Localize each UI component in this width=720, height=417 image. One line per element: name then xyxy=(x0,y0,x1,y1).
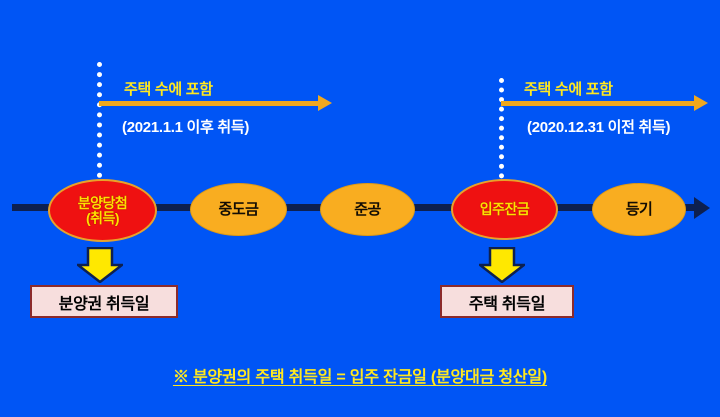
callout-box-housing-acquisition-date: 주택 취득일 xyxy=(440,285,574,318)
diagram-canvas: 주택 수에 포함 (2021.1.1 이후 취득) 주택 수에 포함 (2020… xyxy=(0,0,720,417)
timeline-node-sublabel: (취득) xyxy=(86,211,119,226)
annotation-subtitle-left: (2021.1.1 이후 취득) xyxy=(122,116,249,137)
timeline-node-label: 중도금 xyxy=(219,202,259,218)
timeline-node-label: 등기 xyxy=(626,202,653,218)
dotted-guide-line-left xyxy=(97,62,107,188)
timeline-node-label: 분양당첨 xyxy=(78,196,128,211)
down-arrow-icon-left xyxy=(77,247,123,283)
timeline-axis-arrowhead xyxy=(694,197,710,219)
footnote: ※ 분양권의 주택 취득일 = 입주 잔금일 (분양대금 청산일) xyxy=(0,363,720,387)
timeline-node-label: 입주잔금 xyxy=(480,202,530,217)
timeline-node-jungong[interactable]: 준공 xyxy=(320,183,415,236)
annotation-title-left: 주택 수에 포함 xyxy=(124,78,213,99)
annotation-subtitle-right: (2020.12.31 이전 취득) xyxy=(527,116,670,137)
annotation-arrowhead-left xyxy=(318,95,332,111)
annotation-arrow-right xyxy=(501,101,694,106)
dotted-guide-line-right xyxy=(499,78,509,188)
timeline-node-bunyang-dangcheom[interactable]: 분양당첨 (취득) xyxy=(48,179,157,242)
timeline-node-label: 준공 xyxy=(354,202,381,218)
callout-box-bunyanggwon-acquisition-date: 분양권 취득일 xyxy=(30,285,178,318)
timeline-node-ipju-jangeum[interactable]: 입주잔금 xyxy=(451,179,558,240)
annotation-arrow-left xyxy=(99,101,318,106)
annotation-title-right: 주택 수에 포함 xyxy=(524,78,613,99)
down-arrow-icon-right xyxy=(479,247,525,283)
annotation-arrowhead-right xyxy=(694,95,708,111)
timeline-node-deunggi[interactable]: 등기 xyxy=(592,183,686,236)
timeline-node-jungdogeum[interactable]: 중도금 xyxy=(190,183,287,236)
footnote-text: ※ 분양권의 주택 취득일 = 입주 잔금일 (분양대금 청산일) xyxy=(173,369,547,386)
